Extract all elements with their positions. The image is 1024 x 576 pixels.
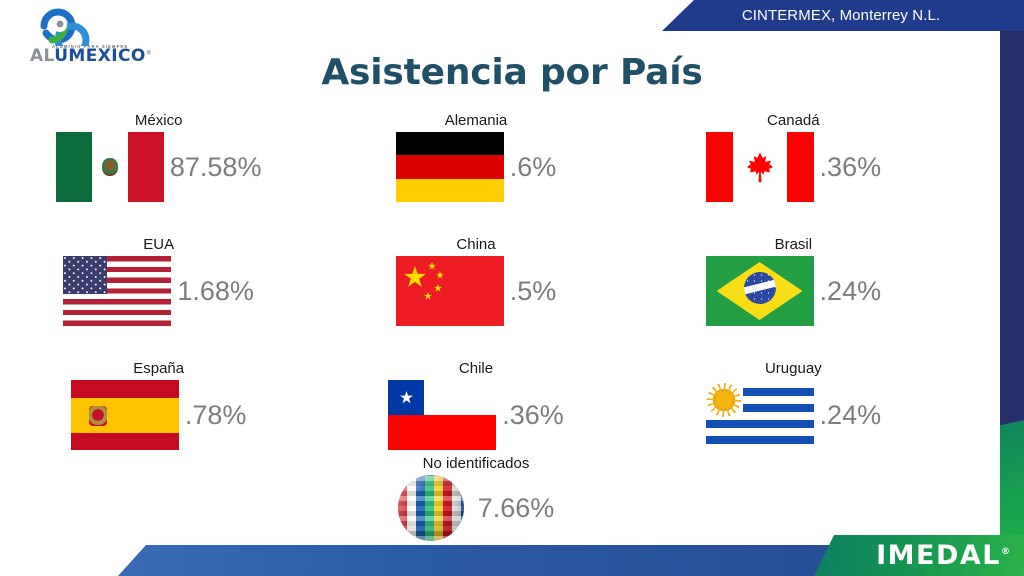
country-percent: .24% bbox=[820, 400, 882, 431]
country-row: .6% bbox=[396, 132, 557, 202]
country-row: 1.68% bbox=[63, 256, 254, 326]
country-cell-mexico: México 87.58% bbox=[0, 112, 317, 236]
country-row: 7.66% bbox=[398, 475, 555, 541]
country-percent: .5% bbox=[510, 276, 557, 307]
country-row: .78% bbox=[71, 380, 247, 450]
flag-uruguay-icon bbox=[706, 380, 814, 450]
country-percent: 1.68% bbox=[177, 276, 254, 307]
star-icon bbox=[400, 391, 413, 404]
imedal-wordmark: IMEDAL® bbox=[876, 540, 1024, 571]
star-icon bbox=[404, 266, 426, 288]
country-label: España bbox=[133, 360, 184, 377]
globe-of-flags-icon bbox=[398, 475, 464, 541]
country-cell-eua: EUA 1.68% bbox=[0, 236, 317, 360]
country-percent: .78% bbox=[185, 400, 247, 431]
country-label: Chile bbox=[459, 360, 493, 377]
page-title: Asistencia por País bbox=[0, 52, 1024, 93]
country-cell-no-identificados: No identificados 7.66% bbox=[0, 455, 952, 541]
country-cell-canada: Canadá .36% bbox=[635, 112, 952, 236]
country-cell-china: China bbox=[317, 236, 634, 360]
country-label: México bbox=[135, 112, 183, 129]
flag-china-icon bbox=[396, 256, 504, 326]
flag-chile-icon bbox=[388, 380, 496, 450]
country-cell-alemania: Alemania .6% bbox=[317, 112, 634, 236]
country-percent: .36% bbox=[820, 152, 882, 183]
venue-banner: CINTERMEX, Monterrey N.L. bbox=[662, 0, 1024, 31]
slide-canvas: CINTERMEX, Monterrey N.L. ALUMINIO PARA … bbox=[0, 0, 1024, 576]
country-grid: México 87.58% Alemania .6% Canadá bbox=[0, 112, 952, 484]
country-percent: .24% bbox=[820, 276, 882, 307]
country-label: Canadá bbox=[767, 112, 820, 129]
star-icon bbox=[434, 284, 442, 292]
country-label: Alemania bbox=[445, 112, 508, 129]
country-label: Brasil bbox=[775, 236, 813, 253]
flag-brazil-icon bbox=[706, 256, 814, 326]
country-percent: .6% bbox=[510, 152, 557, 183]
country-row: .24% bbox=[706, 380, 882, 450]
flag-mexico-icon bbox=[56, 132, 164, 202]
country-label: EUA bbox=[143, 236, 174, 253]
flag-spain-icon bbox=[71, 380, 179, 450]
star-icon bbox=[428, 262, 436, 270]
country-row: .24% bbox=[706, 256, 882, 326]
country-percent: 7.66% bbox=[478, 493, 555, 524]
country-row: .5% bbox=[396, 256, 557, 326]
imedal-logo: IMEDAL® bbox=[814, 535, 1024, 576]
imedal-wordmark-text: IMEDAL bbox=[876, 540, 1001, 571]
alumexico-logo: ALUMINIO PARA SIEMPRE ALUMEXICO® bbox=[22, 6, 158, 58]
country-cell-brasil: Brasil .24% bbox=[635, 236, 952, 360]
flag-usa-icon bbox=[63, 256, 171, 326]
country-row: .36% bbox=[388, 380, 564, 450]
flag-canada-icon bbox=[706, 132, 814, 202]
country-percent: .36% bbox=[502, 400, 564, 431]
alumexico-infinity-icon bbox=[22, 6, 158, 46]
country-label: No identificados bbox=[423, 455, 530, 472]
star-icon bbox=[424, 292, 432, 300]
venue-text: CINTERMEX, Monterrey N.L. bbox=[720, 7, 966, 24]
country-row: 87.58% bbox=[56, 132, 262, 202]
country-row: .36% bbox=[706, 132, 882, 202]
country-label: China bbox=[456, 236, 495, 253]
country-percent: 87.58% bbox=[170, 152, 262, 183]
country-label: Uruguay bbox=[765, 360, 822, 377]
imedal-registered-mark: ® bbox=[1001, 547, 1010, 557]
star-icon bbox=[436, 271, 444, 279]
sun-of-may-icon bbox=[710, 386, 738, 414]
flag-germany-icon bbox=[396, 132, 504, 202]
maple-leaf-icon bbox=[746, 144, 774, 190]
